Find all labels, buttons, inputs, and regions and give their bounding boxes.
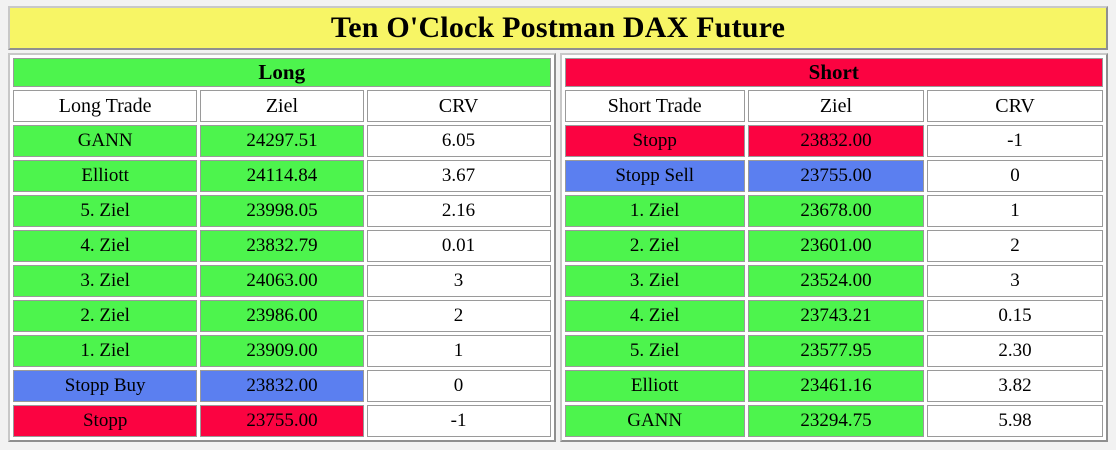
- long-crv-cell: 3.67: [367, 160, 551, 192]
- short-section-header-row: Short: [565, 58, 1104, 87]
- table-row: Elliott23461.163.82: [565, 370, 1104, 402]
- short-ziel-cell: 23577.95: [748, 335, 924, 367]
- table-row: 2. Ziel23986.002: [13, 300, 551, 332]
- short-table-body: Stopp23832.00-1Stopp Sell23755.0001. Zie…: [565, 125, 1104, 437]
- long-crv-cell: 1: [367, 335, 551, 367]
- short-trade-cell: Stopp: [565, 125, 745, 157]
- short-trade-cell: 1. Ziel: [565, 195, 745, 227]
- short-trade-cell: 3. Ziel: [565, 265, 745, 297]
- short-crv-cell: 2.30: [927, 335, 1103, 367]
- long-trade-cell: 4. Ziel: [13, 230, 197, 262]
- long-ziel-cell: 23986.00: [200, 300, 363, 332]
- table-row: 5. Ziel23998.052.16: [13, 195, 551, 227]
- long-trade-cell: 5. Ziel: [13, 195, 197, 227]
- short-crv-cell: 0.15: [927, 300, 1103, 332]
- long-trade-cell: GANN: [13, 125, 197, 157]
- long-table-body: GANN24297.516.05Elliott24114.843.675. Zi…: [13, 125, 551, 437]
- long-crv-cell: 3: [367, 265, 551, 297]
- short-ziel-cell: 23678.00: [748, 195, 924, 227]
- short-ziel-cell: 23601.00: [748, 230, 924, 262]
- table-row: 3. Ziel24063.003: [13, 265, 551, 297]
- long-column-header-crv: CRV: [367, 90, 551, 122]
- long-ziel-cell: 24063.00: [200, 265, 363, 297]
- short-trade-cell: Stopp Sell: [565, 160, 745, 192]
- short-crv-cell: 0: [927, 160, 1103, 192]
- short-column-header-trade: Short Trade: [565, 90, 745, 122]
- short-ziel-cell: 23294.75: [748, 405, 924, 437]
- short-ziel-cell: 23832.00: [748, 125, 924, 157]
- table-row: GANN23294.755.98: [565, 405, 1104, 437]
- long-section-header-row: Long: [13, 58, 551, 87]
- long-column-header-row: Long Trade Ziel CRV: [13, 90, 551, 122]
- long-crv-cell: 6.05: [367, 125, 551, 157]
- short-crv-cell: 2: [927, 230, 1103, 262]
- long-trade-cell: 3. Ziel: [13, 265, 197, 297]
- short-crv-cell: 3.82: [927, 370, 1103, 402]
- long-column-header-ziel: Ziel: [200, 90, 363, 122]
- long-ziel-cell: 23832.79: [200, 230, 363, 262]
- long-ziel-cell: 23832.00: [200, 370, 363, 402]
- short-ziel-cell: 23755.00: [748, 160, 924, 192]
- short-column-header-ziel: Ziel: [748, 90, 924, 122]
- long-crv-cell: 2.16: [367, 195, 551, 227]
- short-crv-cell: -1: [927, 125, 1103, 157]
- table-row: 1. Ziel23909.001: [13, 335, 551, 367]
- table-row: Stopp Buy23832.000: [13, 370, 551, 402]
- table-row: 4. Ziel23832.790.01: [13, 230, 551, 262]
- long-trade-cell: Stopp: [13, 405, 197, 437]
- table-row: 4. Ziel23743.210.15: [565, 300, 1104, 332]
- long-ziel-cell: 23755.00: [200, 405, 363, 437]
- long-section-label: Long: [13, 58, 551, 87]
- short-ziel-cell: 23461.16: [748, 370, 924, 402]
- long-ziel-cell: 24114.84: [200, 160, 363, 192]
- long-crv-cell: 0: [367, 370, 551, 402]
- long-trade-cell: 1. Ziel: [13, 335, 197, 367]
- short-column-header-crv: CRV: [927, 90, 1103, 122]
- short-trade-cell: 5. Ziel: [565, 335, 745, 367]
- long-column-header-trade: Long Trade: [13, 90, 197, 122]
- short-trade-cell: 4. Ziel: [565, 300, 745, 332]
- long-ziel-cell: 23998.05: [200, 195, 363, 227]
- table-row: Stopp23832.00-1: [565, 125, 1104, 157]
- table-row: Stopp23755.00-1: [13, 405, 551, 437]
- long-trades-table: Long Long Trade Ziel CRV GANN24297.516.0…: [8, 53, 556, 442]
- short-trade-cell: Elliott: [565, 370, 745, 402]
- page-title: Ten O'Clock Postman DAX Future: [8, 6, 1108, 50]
- long-ziel-cell: 24297.51: [200, 125, 363, 157]
- long-trade-cell: 2. Ziel: [13, 300, 197, 332]
- long-crv-cell: -1: [367, 405, 551, 437]
- short-trade-cell: 2. Ziel: [565, 230, 745, 262]
- long-crv-cell: 2: [367, 300, 551, 332]
- short-crv-cell: 3: [927, 265, 1103, 297]
- short-crv-cell: 5.98: [927, 405, 1103, 437]
- short-column-header-row: Short Trade Ziel CRV: [565, 90, 1104, 122]
- table-row: 2. Ziel23601.002: [565, 230, 1104, 262]
- short-trades-table: Short Short Trade Ziel CRV Stopp23832.00…: [560, 53, 1109, 442]
- short-trade-cell: GANN: [565, 405, 745, 437]
- long-ziel-cell: 23909.00: [200, 335, 363, 367]
- table-row: Stopp Sell23755.000: [565, 160, 1104, 192]
- short-crv-cell: 1: [927, 195, 1103, 227]
- long-trade-cell: Stopp Buy: [13, 370, 197, 402]
- long-trade-cell: Elliott: [13, 160, 197, 192]
- short-ziel-cell: 23743.21: [748, 300, 924, 332]
- short-section-label: Short: [565, 58, 1104, 87]
- table-row: 3. Ziel23524.003: [565, 265, 1104, 297]
- table-row: 5. Ziel23577.952.30: [565, 335, 1104, 367]
- long-crv-cell: 0.01: [367, 230, 551, 262]
- short-ziel-cell: 23524.00: [748, 265, 924, 297]
- page-root: Ten O'Clock Postman DAX Future Long Long…: [0, 0, 1116, 450]
- table-row: 1. Ziel23678.001: [565, 195, 1104, 227]
- table-row: Elliott24114.843.67: [13, 160, 551, 192]
- tables-container: Long Long Trade Ziel CRV GANN24297.516.0…: [8, 53, 1108, 442]
- table-row: GANN24297.516.05: [13, 125, 551, 157]
